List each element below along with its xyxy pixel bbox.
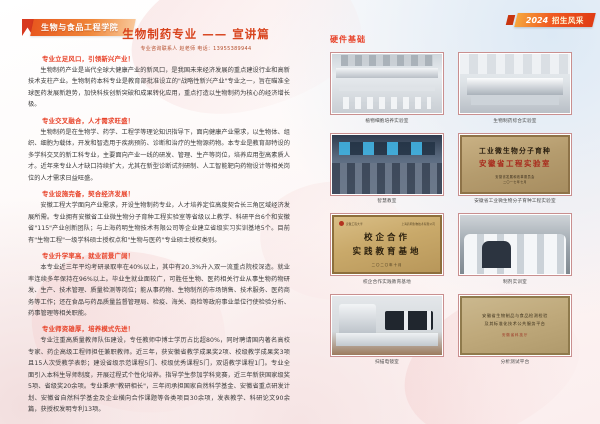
facility-item: 智慧教室 bbox=[330, 133, 444, 205]
facility-item: 安徽工程大学 上海药明生物技术有限公司 校企合作 实践教育基地 二〇二〇年十月 … bbox=[330, 213, 444, 285]
brochure-page: 生物与食品工程学院 2024 招生风采 生物制药专业 —— 宣讲篇 专业咨询联系… bbox=[0, 0, 600, 424]
photo-caption: 安徽省工业微生物分子育种工程实验室 bbox=[458, 198, 572, 204]
facility-item: 生物制药综合实验室 bbox=[458, 52, 572, 124]
lab-bench bbox=[336, 333, 437, 346]
title-block: 生物制药专业 —— 宣讲篇 专业咨询联系人 赵老师 电话：13955389944 bbox=[96, 26, 296, 52]
plant-cell-culture-lab-photo bbox=[332, 54, 442, 113]
photo-caption: 植物细胞培养实验室 bbox=[330, 118, 444, 124]
contact-line: 专业咨询联系人 赵老师 电话：13955389944 bbox=[96, 45, 296, 52]
university-emblem-icon bbox=[339, 221, 344, 226]
plaque-title-1: 校企合作 bbox=[364, 231, 410, 243]
facilities-grid: 植物细胞培养实验室 生物制药综合实验室 智慧教室 工业微 bbox=[330, 52, 582, 365]
facilities-heading: 硬件基础 bbox=[330, 34, 582, 45]
photo-caption: 校企合作实践教育基地 bbox=[330, 279, 444, 285]
photo-frame: 安徽省生物制品与食品检测检验 及其标准化技术公共服务平台 安徽省科技厅 bbox=[458, 294, 572, 357]
photo-frame bbox=[330, 52, 444, 115]
photo-frame bbox=[458, 213, 572, 276]
analysis-platform-plaque: 安徽省生物制品与食品检测检验 及其标准化技术公共服务平台 安徽省科技厅 bbox=[460, 296, 570, 355]
glassware-row bbox=[343, 97, 431, 110]
photo-caption: 智慧教室 bbox=[330, 198, 444, 204]
university-logo-label: 安徽工程大学 bbox=[346, 223, 363, 226]
facility-item: 安徽省生物制品与食品检测检验 及其标准化技术公共服务平台 安徽省科技厅 分析测试… bbox=[458, 294, 572, 366]
section-heading: 专业交叉融合，人才需求旺盛！ bbox=[42, 116, 290, 125]
plaque-logos: 安徽工程大学 上海药明生物技术有限公司 bbox=[339, 221, 435, 226]
admission-badge: 2024 招生风采 bbox=[514, 13, 596, 27]
plaque-line-2: 及其标准化技术公共服务平台 bbox=[485, 320, 546, 327]
plaque-title-2: 实践教育基地 bbox=[352, 245, 421, 257]
section-heading: 专业设施完备，契合经济发展！ bbox=[42, 189, 290, 198]
article-section: 专业交叉融合，人才需求旺盛！ 生物制药是在生物学、药学、工程学等理论知识指导下，… bbox=[28, 116, 290, 184]
photo-caption: 扫描电镜室 bbox=[330, 359, 444, 365]
article-section: 专业立足风口，引领新兴产业！ 生物制药产业是当代全球大健康产业的新风口，是我国未… bbox=[28, 54, 290, 111]
section-heading: 专业立足风口，引领新兴产业！ bbox=[42, 54, 290, 63]
photo-caption: 制剂实训室 bbox=[458, 279, 572, 285]
section-body: 生物制药产业是当代全球大健康产业的新风口，是我国未来经济发展的重点建设行业和高新… bbox=[28, 65, 290, 111]
smart-classroom-photo bbox=[332, 135, 442, 194]
facility-item: 工业微生物分子育种 安徽省工程实验室 安徽省发展和改革委员会 二〇一七年七月 安… bbox=[458, 133, 572, 205]
photo-frame: 安徽工程大学 上海药明生物技术有限公司 校企合作 实践教育基地 二〇二〇年十月 bbox=[330, 213, 444, 276]
company-logo: 上海药明生物技术有限公司 bbox=[401, 222, 435, 226]
badge-year: 2024 bbox=[526, 16, 548, 25]
section-heading: 专业升学率高，就业前景广阔！ bbox=[42, 251, 290, 260]
photo-frame: 工业微生物分子育种 安徽省工程实验室 安徽省发展和改革委员会 二〇一七年七月 bbox=[458, 133, 572, 196]
facility-item: 扫描电镜室 bbox=[330, 294, 444, 366]
badge-label: 招生风采 bbox=[552, 15, 584, 26]
school-enterprise-plaque: 安徽工程大学 上海药明生物技术有限公司 校企合作 实践教育基地 二〇二〇年十月 bbox=[332, 215, 442, 274]
section-body: 生物制药是在生物学、药学、工程学等理论知识指导下，面向健康产业需求，以生物体、组… bbox=[28, 127, 290, 184]
article-section: 专业升学率高，就业前景广阔！ 本专业近三年平均考研录取率在40%以上，其中有20… bbox=[28, 251, 290, 319]
formulation-training-room-photo bbox=[460, 215, 570, 274]
section-body: 安徽工程大学面向产业需求，开设生物制药专业，人才培养定位高度契合长三角区域经济发… bbox=[28, 200, 290, 246]
section-body: 本专业近三年平均考研录取率在40%以上，其中有20.3%升入双一流重点院校深造。… bbox=[28, 262, 290, 319]
facility-item: 制剂实训室 bbox=[458, 213, 572, 285]
article-column: 专业立足风口，引领新兴产业！ 生物制药产业是当代全球大健康产业的新风口，是我国未… bbox=[28, 54, 290, 421]
photo-caption: 分析测试平台 bbox=[458, 359, 572, 365]
scanning-electron-microscope-room-photo bbox=[332, 296, 442, 355]
page-title: 生物制药专业 —— 宣讲篇 bbox=[96, 26, 296, 42]
photo-frame bbox=[330, 294, 444, 357]
plaque-date: 二〇二〇年十月 bbox=[372, 262, 403, 267]
facility-item: 植物细胞培养实验室 bbox=[330, 52, 444, 124]
plaque-issuer: 安徽省科技厅 bbox=[502, 333, 528, 338]
photo-caption: 生物制药综合实验室 bbox=[458, 118, 572, 124]
section-heading: 专业师资雄厚，培养模式先进！ bbox=[42, 324, 290, 333]
plaque-date: 二〇一七年七月 bbox=[503, 180, 527, 184]
plaque-line-2: 安徽省工程实验室 bbox=[479, 158, 551, 169]
engineering-lab-plaque: 工业微生物分子育种 安徽省工程实验室 安徽省发展和改革委员会 二〇一七年七月 bbox=[460, 135, 570, 194]
plaque-line-1: 工业微生物分子育种 bbox=[479, 145, 551, 155]
biopharma-lab-photo bbox=[460, 54, 570, 113]
section-body: 专业注重高质量教师队伍建设，专任教师中博士学历占比超80%，同时聘请国内著名高校… bbox=[28, 335, 290, 415]
article-section: 专业设施完备，契合经济发展！ 安徽工程大学面向产业需求，开设生物制药专业，人才培… bbox=[28, 189, 290, 246]
photo-frame bbox=[458, 52, 572, 115]
university-logo: 安徽工程大学 bbox=[339, 221, 363, 226]
plaque-issuer: 安徽省发展和改革委员会 bbox=[495, 174, 534, 179]
plaque-line-1: 安徽省生物制品与食品检测检验 bbox=[482, 312, 548, 319]
photo-frame bbox=[330, 133, 444, 196]
article-section: 专业师资雄厚，培养模式先进！ 专业注重高质量教师队伍建设，专任教师中博士学历占比… bbox=[28, 324, 290, 415]
facilities-column: 硬件基础 植物细胞培养实验室 生物制药综合实验室 bbox=[330, 34, 582, 365]
